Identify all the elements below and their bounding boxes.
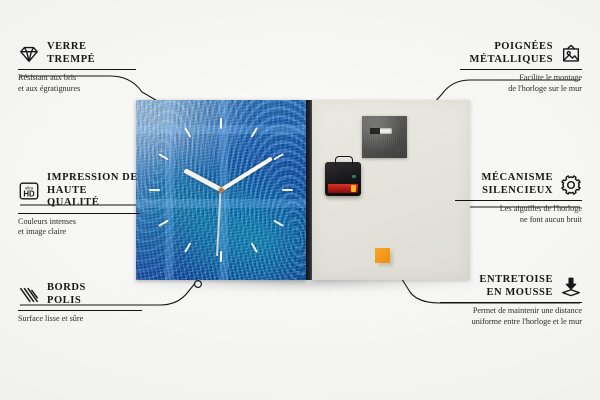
feature-rule [18,69,136,70]
foam-spacer [375,248,390,263]
feature-header: ultra HD IMPRESSION DEHAUTE QUALITÉ [18,172,140,210]
feature-rule [18,213,140,214]
picture-frame-hanger-icon [560,43,582,65]
feature-description: Couleurs intenseset image claire [18,217,140,238]
feature-title: BORDSPOLIS [47,282,86,307]
feature-description: Facilite le montagede l'horloge sur le m… [460,73,582,94]
feature-impression-haute-qualite[interactable]: ultra HD IMPRESSION DEHAUTE QUALITÉ Coul… [18,172,140,238]
clock-tick [221,189,293,191]
foam-spacer-icon [560,276,582,298]
feature-title: VERRETREMPÉ [47,41,95,66]
clock-center-cap [219,188,224,193]
feature-description: Surface lisse et sûre [18,314,142,325]
feature-bords-polis[interactable]: BORDSPOLIS Surface lisse et sûre [18,282,142,325]
feature-verre-trempe[interactable]: VERRETREMPÉ Résistant aux briset aux égr… [18,41,136,94]
clock-front-face [136,100,306,280]
feature-header: MÉCANISMESILENCIEUX [455,172,582,197]
feature-description: Les aiguilles de l'horlogene font aucun … [455,204,582,225]
infographic-stage: VERRETREMPÉ Résistant aux briset aux égr… [0,0,600,400]
gear-icon [560,174,582,196]
feature-entretoise-en-mousse[interactable]: ENTRETOISEEN MOUSSE Permet de maintenir … [440,274,582,327]
svg-text:HD: HD [23,189,35,198]
feature-description: Résistant aux briset aux égratignures [18,73,136,94]
feature-rule [460,69,582,70]
feature-rule [455,200,582,201]
feature-header: ENTRETOISEEN MOUSSE [440,274,582,299]
hanger-slot [370,128,392,134]
ultra-hd-icon: ultra HD [18,180,40,202]
product-photo [136,100,470,280]
clock-tick [220,118,222,190]
feature-title: MÉCANISMESILENCIEUX [482,172,553,197]
clock-mechanism [325,162,361,196]
clock-back-panel [312,100,470,280]
mechanism-indicator [352,175,356,178]
feature-header: POIGNÉESMÉTALLIQUES [460,41,582,66]
feature-title: ENTRETOISEEN MOUSSE [479,274,553,299]
polished-edge-icon [18,284,40,306]
feature-mecanisme-silencieux[interactable]: MÉCANISMESILENCIEUX Les aiguilles de l'h… [455,172,582,225]
feature-title: IMPRESSION DEHAUTE QUALITÉ [47,172,140,210]
feature-header: VERRETREMPÉ [18,41,136,66]
clock-tick [149,189,221,191]
diamond-icon [18,43,40,65]
feature-title: POIGNÉESMÉTALLIQUES [470,41,553,66]
feature-header: BORDSPOLIS [18,282,142,307]
battery [328,184,358,193]
feature-poignees-metalliques[interactable]: POIGNÉESMÉTALLIQUES Facilite le montaged… [460,41,582,94]
mechanism-hook [335,156,353,166]
feature-rule [18,310,142,311]
feature-description: Permet de maintenir une distanceuniforme… [440,306,582,327]
feature-rule [440,302,582,303]
metal-hanger-plate [362,116,407,158]
